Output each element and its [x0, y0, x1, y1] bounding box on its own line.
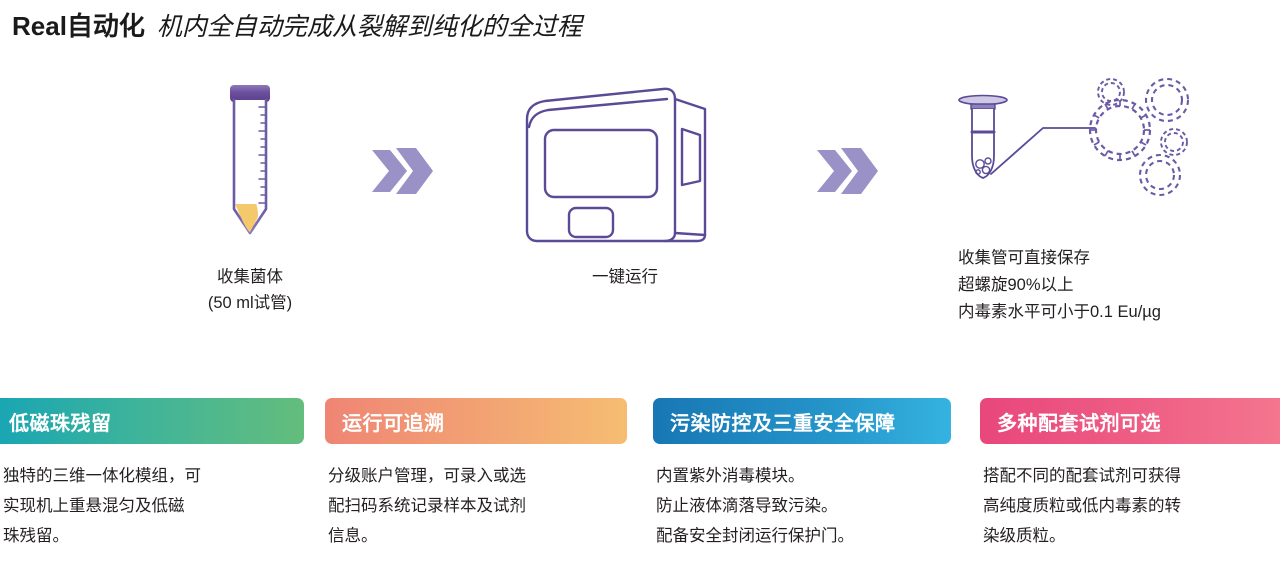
body-line: 实现机上重悬混匀及低磁 [3, 491, 278, 521]
feature-body: 独特的三维一体化模组，可 实现机上重悬混匀及低磁 珠残留。 [0, 461, 278, 551]
body-line: 信息。 [328, 521, 613, 551]
caption-line: (50 ml试管) [150, 290, 350, 316]
caption-line: 收集菌体 [150, 264, 350, 290]
workflow-diagram: 收集菌体 (50 ml试管) [0, 78, 1280, 368]
body-line: 内置紫外消毒模块。 [656, 461, 956, 491]
body-line: 配扫码系统记录样本及试剂 [328, 491, 613, 521]
page-title-italic: 机内全自动完成从裂解到纯化的全过程 [157, 7, 582, 43]
feature-banner-label: 多种配套试剂可选 [997, 407, 1161, 436]
conical-tube-icon [150, 78, 350, 248]
feature-traceable-run: 运行可追溯 分级账户管理，可录入或选 配扫码系统记录样本及试剂 信息。 [325, 398, 627, 551]
feature-banner: 低磁珠残留 [0, 398, 304, 444]
feature-banner: 污染防控及三重安全保障 [653, 398, 951, 444]
caption-line: 一键运行 [480, 264, 770, 290]
feature-reagent-options: 多种配套试剂可选 搭配不同的配套试剂可获得 高纯度质粒或低内毒素的转 染级质粒。 [980, 398, 1280, 551]
body-line: 配备安全封闭运行保护门。 [656, 521, 956, 551]
feature-body: 内置紫外消毒模块。 防止液体滴落导致污染。 配备安全封闭运行保护门。 [653, 461, 956, 551]
page-title: Real自动化 机内全自动完成从裂解到纯化的全过程 [12, 6, 582, 43]
feature-body: 搭配不同的配套试剂可获得 高纯度质粒或低内毒素的转 染级质粒。 [980, 461, 1273, 551]
double-chevron-right-icon [815, 140, 879, 202]
body-line: 独特的三维一体化模组，可 [3, 461, 278, 491]
feature-low-bead-residue: 低磁珠残留 独特的三维一体化模组，可 实现机上重悬混匀及低磁 珠残留。 [0, 398, 304, 551]
body-line: 珠残留。 [3, 521, 278, 551]
feature-banner-label: 运行可追溯 [342, 407, 445, 436]
caption-line: 收集管可直接保存 [958, 245, 1265, 272]
workflow-step-output: 收集管可直接保存 超螺旋90%以上 内毒素水平可小于0.1 Eu/µg [955, 78, 1265, 326]
workflow-step-run-caption: 一键运行 [480, 264, 770, 290]
workflow-step-collect: 收集菌体 (50 ml试管) [150, 78, 350, 316]
workflow-step-output-caption: 收集管可直接保存 超螺旋90%以上 内毒素水平可小于0.1 Eu/µg [955, 245, 1265, 326]
caption-line: 超螺旋90%以上 [958, 272, 1265, 299]
feature-body: 分级账户管理，可录入或选 配扫码系统记录样本及试剂 信息。 [325, 461, 613, 551]
body-line: 高纯度质粒或低内毒素的转 [983, 491, 1273, 521]
feature-list: 低磁珠残留 独特的三维一体化模组，可 实现机上重悬混匀及低磁 珠残留。 运行可追… [0, 398, 1280, 578]
body-line: 分级账户管理，可录入或选 [328, 461, 613, 491]
instrument-icon [480, 78, 770, 248]
microtube-plasmid-icon [955, 78, 1265, 203]
caption-line: 内毒素水平可小于0.1 Eu/µg [958, 299, 1265, 326]
workflow-step-run: 一键运行 [480, 78, 770, 290]
page-title-bold: Real自动化 [12, 6, 145, 43]
feature-banner: 多种配套试剂可选 [980, 398, 1280, 444]
body-line: 染级质粒。 [983, 521, 1273, 551]
body-line: 防止液体滴落导致污染。 [656, 491, 956, 521]
workflow-step-collect-caption: 收集菌体 (50 ml试管) [150, 264, 350, 316]
feature-banner-label: 污染防控及三重安全保障 [670, 407, 896, 436]
feature-banner: 运行可追溯 [325, 398, 627, 444]
feature-banner-label: 低磁珠残留 [9, 407, 112, 436]
body-line: 搭配不同的配套试剂可获得 [983, 461, 1273, 491]
feature-contamination-control: 污染防控及三重安全保障 内置紫外消毒模块。 防止液体滴落导致污染。 配备安全封闭… [653, 398, 951, 551]
double-chevron-right-icon [370, 140, 434, 202]
